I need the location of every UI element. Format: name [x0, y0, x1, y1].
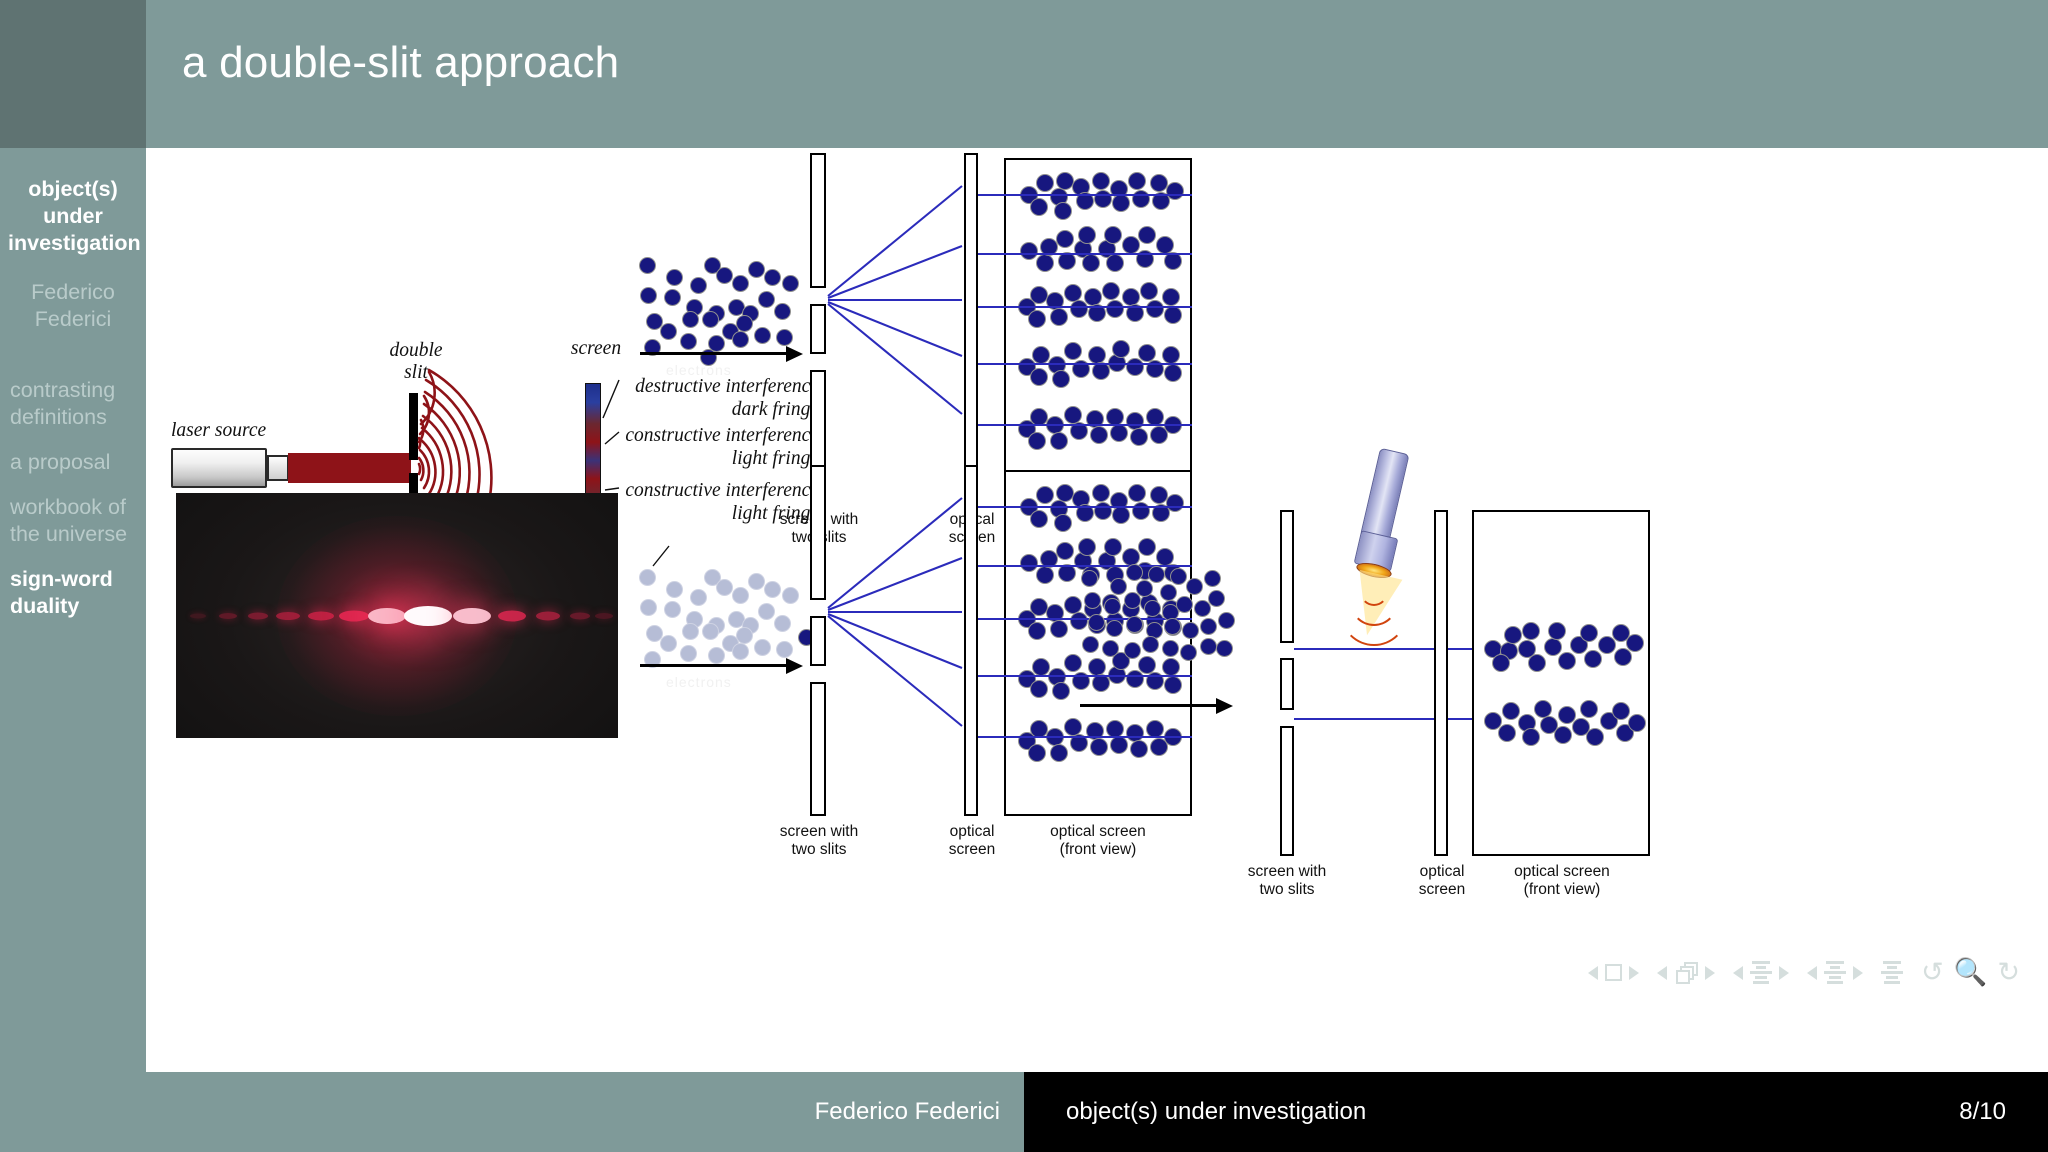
caption-slits-bottom: screen with two slits [766, 823, 872, 859]
electron-arrow-label-bottom: electrons [666, 674, 732, 690]
history-group[interactable]: ↺ 🔍 ↻ [1921, 959, 2020, 986]
screen-label: screen [556, 338, 636, 360]
caption-front-observed-line1: optical screen [1514, 863, 1610, 880]
two-slit-wall-top-segment-1 [810, 153, 826, 288]
electron-cloud-observed [1076, 560, 1238, 670]
page-title: a double-slit approach [182, 38, 619, 88]
document-icon[interactable] [1881, 961, 1903, 984]
next-subsection-icon[interactable] [1779, 966, 1789, 980]
frame-navigation-group[interactable] [1588, 964, 1639, 981]
band-line-top-4 [978, 363, 1192, 365]
fringe-spot [498, 610, 526, 621]
back-icon[interactable]: ↺ [1921, 959, 1944, 986]
caption-optical-bottom-line2: screen [949, 841, 996, 858]
document-group[interactable] [1881, 961, 1903, 984]
electron-cloud-top [636, 243, 796, 353]
fringe-spot [276, 612, 300, 620]
band-line-top-3 [978, 306, 1192, 308]
sidebar-author: Federico Federici [8, 279, 138, 333]
beamer-navigation-bar[interactable]: ↺ 🔍 ↻ [1588, 959, 2020, 986]
caption-optical-observed-line1: optical [1420, 863, 1465, 880]
slide-stack-icon[interactable] [1674, 962, 1698, 984]
sidebar: object(s) under investigation Federico F… [0, 148, 146, 1072]
next-slide-icon[interactable] [1705, 966, 1715, 980]
prev-subsection-icon[interactable] [1733, 966, 1743, 980]
laser-source-label: laser source [171, 420, 266, 442]
sidebar-item-sign-word-duality[interactable]: sign-word duality [8, 566, 138, 620]
section-navigation-group[interactable] [1807, 961, 1863, 984]
sidebar-item-contrasting-definitions[interactable]: contrasting definitions [8, 377, 138, 431]
caption-front-observed: optical screen (front view) [1478, 863, 1646, 899]
double-slit-label-line1: double [389, 340, 442, 361]
fringe-spot [368, 608, 406, 624]
laser-beam [288, 453, 411, 483]
subsection-icon[interactable] [1750, 961, 1772, 984]
band-line-top-5 [978, 424, 1192, 426]
two-slit-wall-top-segment-2 [810, 304, 826, 354]
flashlight-wave-arc-3 [1340, 578, 1408, 646]
footer-page-number: 8/10 [1959, 1072, 2006, 1152]
search-icon[interactable]: 🔍 [1954, 959, 1988, 986]
electron-beam-arrowhead-bottom [786, 658, 803, 674]
flashlight-handle [1360, 448, 1409, 540]
next-section-icon[interactable] [1853, 966, 1863, 980]
slide-navigation-group[interactable] [1657, 962, 1715, 984]
electron-arrow-label-top: electrons [666, 362, 732, 378]
caption-optical-observed-line2: screen [1419, 881, 1466, 898]
section-icon[interactable] [1824, 961, 1846, 984]
footer-section-area: object(s) under investigation 8/10 [1024, 1072, 2048, 1152]
electron-beam-arrow-top [640, 352, 788, 355]
caption-slits-bottom-line2: two slits [791, 841, 846, 858]
footer-section: object(s) under investigation [1066, 1072, 1366, 1152]
sidebar-divider [8, 333, 138, 359]
caption-optical-bottom-line1: optical [950, 823, 995, 840]
fringe-spot [248, 612, 268, 619]
two-slit-wall-observed-segment-1 [1280, 510, 1294, 643]
fringe-spot [536, 611, 560, 620]
laser-interference-photo [176, 493, 618, 738]
prev-frame-icon[interactable] [1588, 966, 1598, 980]
fringe-spot [339, 610, 369, 621]
caption-slits-observed: screen with two slits [1234, 863, 1340, 899]
caption-slits-observed-line2: two slits [1259, 881, 1314, 898]
two-slit-wall-observed-segment-2 [1280, 658, 1294, 710]
next-frame-icon[interactable] [1629, 966, 1639, 980]
forward-icon[interactable]: ↻ [1997, 959, 2020, 986]
electron-beam-arrowhead-top [786, 346, 803, 362]
two-slit-wall-bottom-segment-1 [810, 465, 826, 600]
caption-optical-observed: optical screen [1396, 863, 1488, 899]
sidebar-presentation-title[interactable]: object(s) under investigation [8, 176, 138, 257]
two-slit-wall-bottom-segment-2 [810, 616, 826, 666]
fringe-spot [219, 613, 237, 619]
band-line-top-2 [978, 253, 1192, 255]
header-title-bar: a double-slit approach [146, 0, 2048, 148]
frame-icon[interactable] [1605, 964, 1622, 981]
caption-slits-observed-line1: screen with [1248, 863, 1326, 880]
fringe-spot [453, 608, 491, 624]
fringe-spot [190, 613, 206, 618]
prev-slide-icon[interactable] [1657, 966, 1667, 980]
two-slit-wall-bottom-segment-3 [810, 682, 826, 816]
fringe-spot [595, 613, 613, 619]
fringe-spot [308, 611, 334, 620]
slide-content: Diffraction at each slit laser source do… [146, 148, 2048, 1072]
optical-screen-top [964, 153, 978, 504]
fringe-spot [570, 612, 590, 619]
laser-source-neck [267, 455, 289, 481]
beam-fan-top [826, 148, 986, 508]
sidebar-item-a-proposal[interactable]: a proposal [8, 449, 138, 476]
band-line-top-1 [978, 194, 1192, 196]
electron-diagram-observed: screen with two slits optical screen opt… [1056, 448, 1856, 938]
electron-beam-arrow-bottom [640, 664, 788, 667]
beam-fan-bottom [826, 460, 986, 820]
caption-optical-bottom: optical screen [926, 823, 1018, 859]
two-slit-wall-observed-segment-3 [1280, 726, 1294, 856]
laser-source-body [171, 448, 267, 488]
footer-bar: Federico Federici object(s) under invest… [0, 1072, 2048, 1152]
front-view-screen-observed [1472, 510, 1650, 856]
sidebar-item-workbook-of-the-universe[interactable]: workbook of the universe [8, 494, 138, 548]
caption-slits-bottom-line1: screen with [780, 823, 858, 840]
electron-beam-arrowhead-observed [1216, 698, 1233, 714]
footer-author: Federico Federici [815, 1072, 1000, 1152]
electron-cloud-bottom [636, 555, 796, 665]
optical-screen-observed [1434, 510, 1448, 856]
optical-screen-bottom [964, 465, 978, 816]
caption-front-observed-line2: (front view) [1524, 881, 1601, 898]
footer-author-area: Federico Federici [0, 1072, 1024, 1152]
subsection-navigation-group[interactable] [1733, 961, 1789, 984]
electron-beam-arrow-observed [1080, 704, 1218, 707]
fringe-spot-central [404, 606, 452, 626]
header-left-block [0, 0, 146, 148]
prev-section-icon[interactable] [1807, 966, 1817, 980]
